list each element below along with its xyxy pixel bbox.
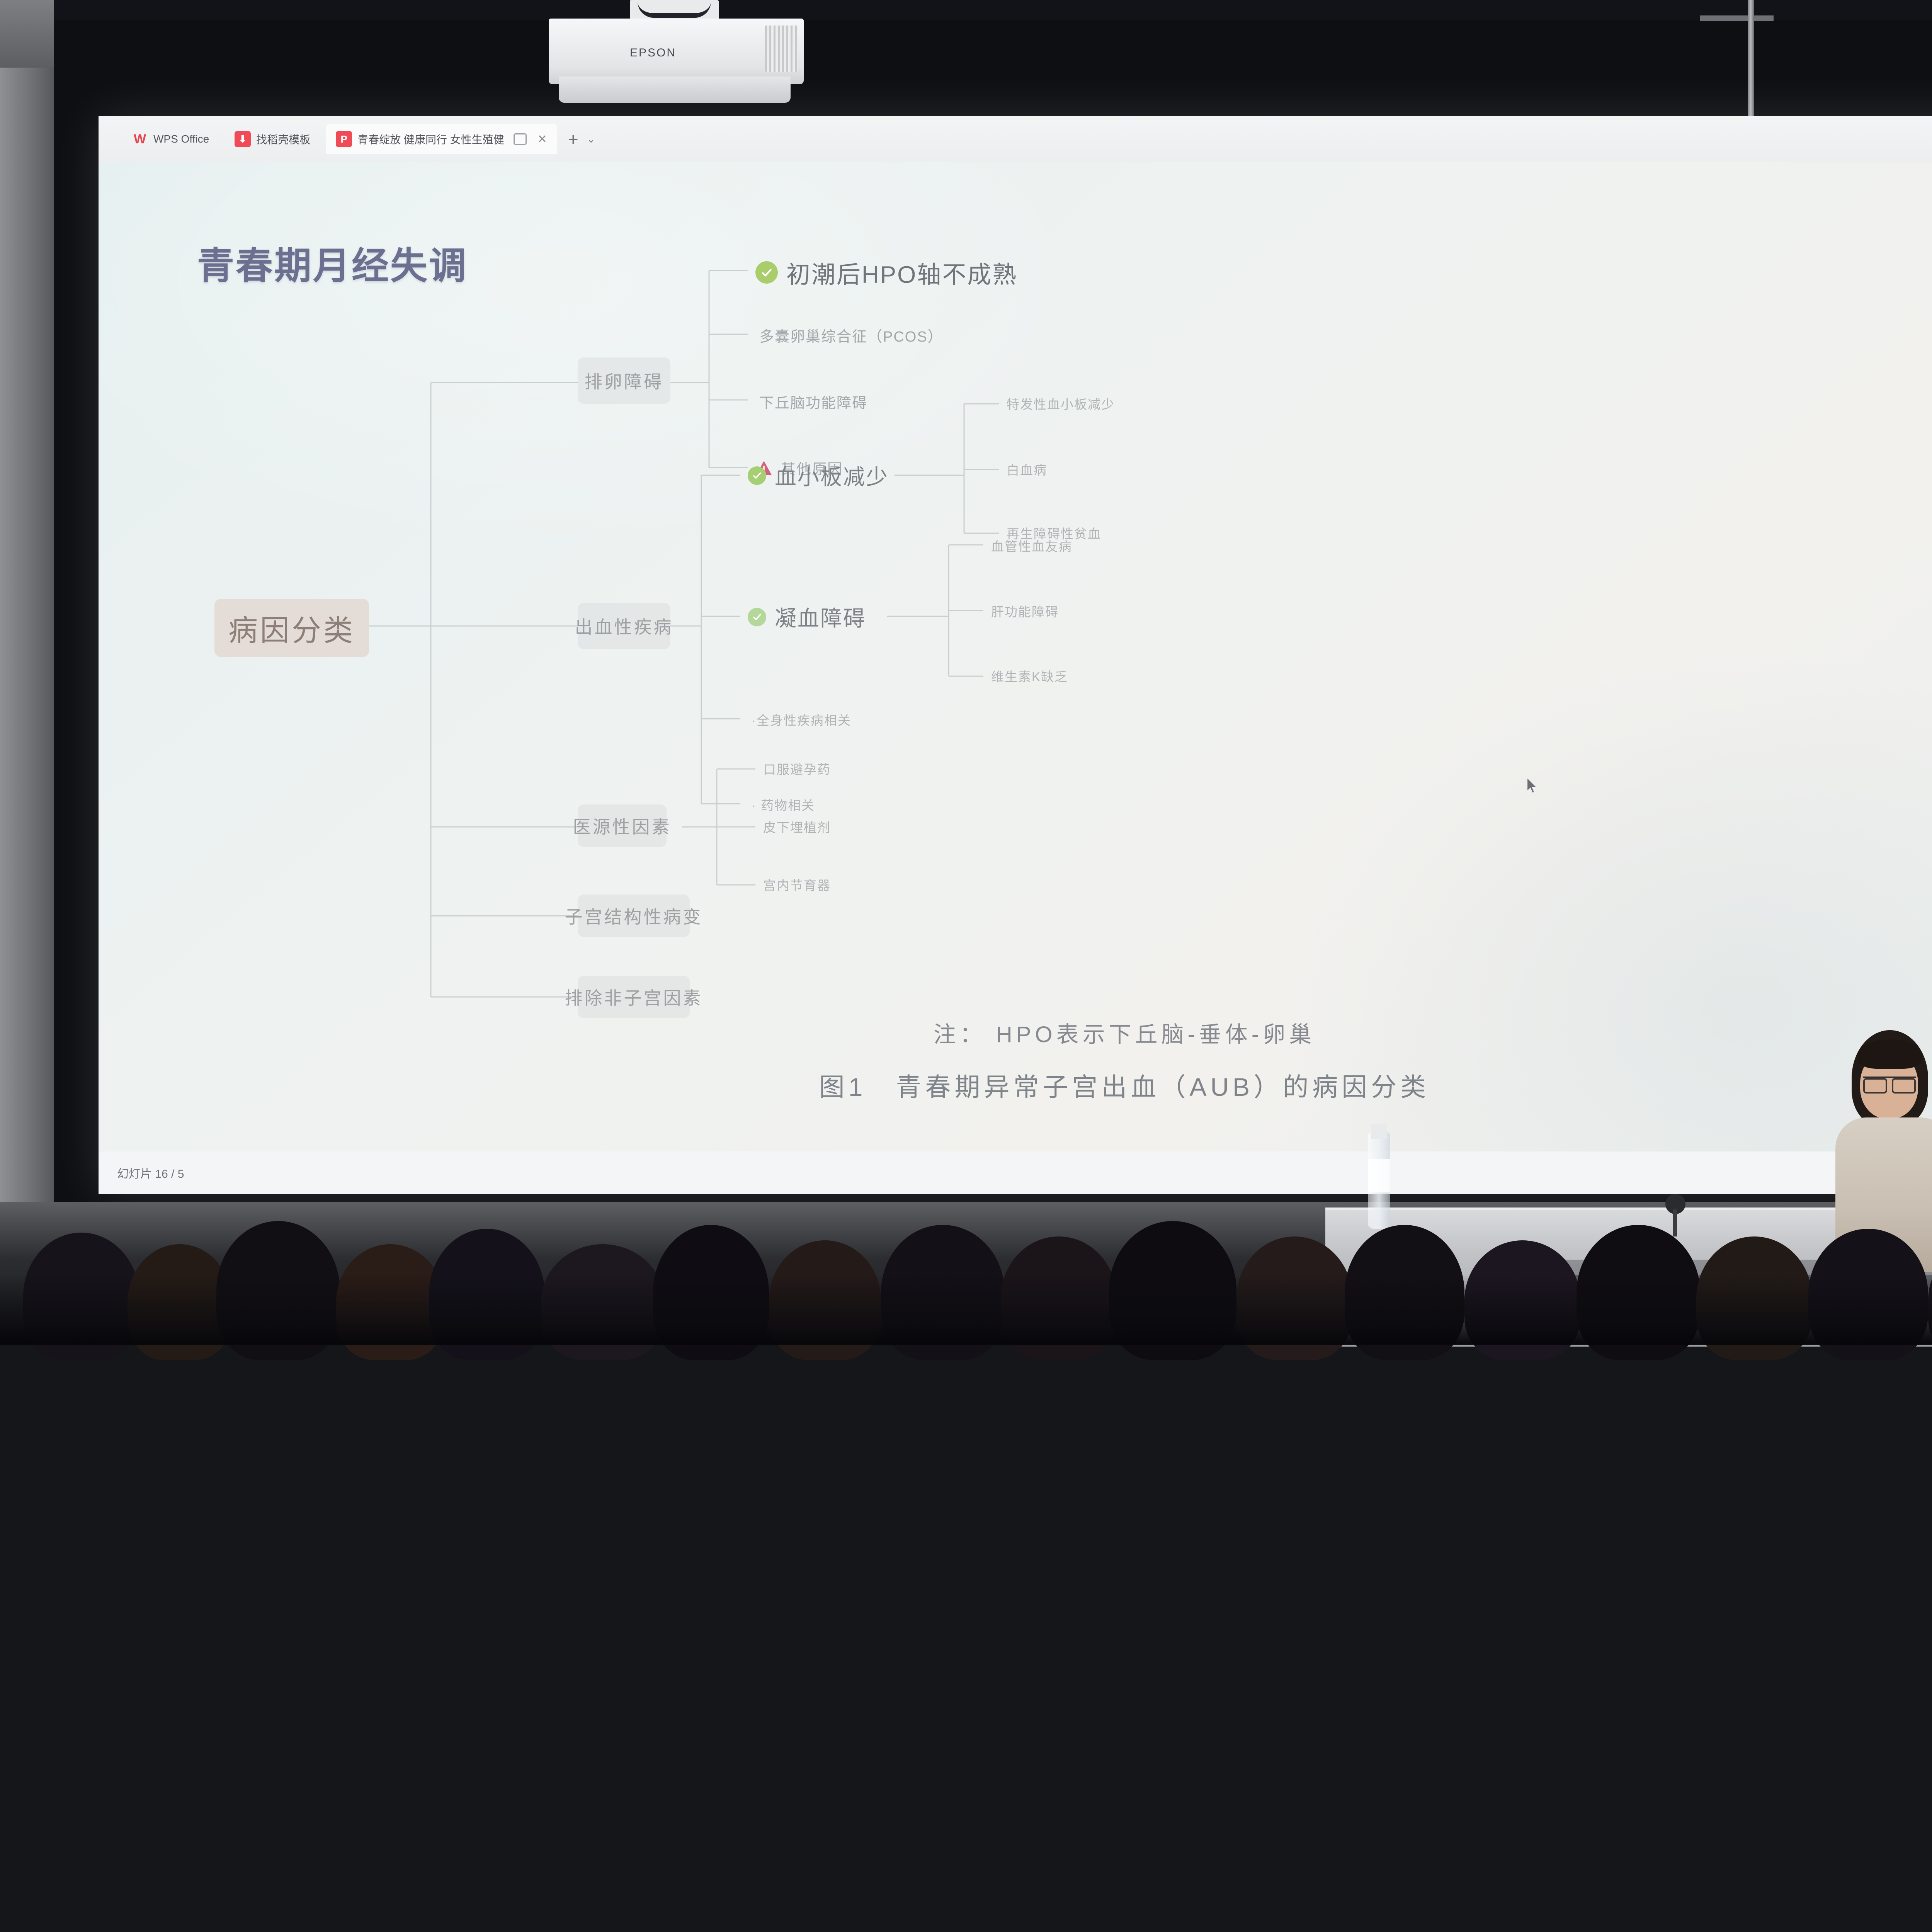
leaf-drug-related[interactable]: · 药物相关 <box>752 795 815 814</box>
projector-cable <box>638 2 711 18</box>
projector-lens-housing <box>559 77 791 103</box>
leaf-label: 白血病 <box>1007 460 1047 478</box>
check-circle-icon <box>748 608 766 626</box>
new-tab-button[interactable]: + <box>568 129 578 150</box>
tab-label: 青春绽放 健康同行 女性生殖健 <box>357 131 504 147</box>
projector-body: EPSON <box>549 19 804 84</box>
note-figure-caption: 图1 青春期异常子宫出血（AUB）的病因分类 <box>99 1066 1932 1104</box>
presenter-glasses <box>1863 1077 1916 1090</box>
mindmap-branch-exclude-nonuterine[interactable]: 排除非子宫因素 <box>578 976 690 1018</box>
leaf-label: 下丘脑功能障碍 <box>759 391 867 412</box>
mindmap-branch-ovulation[interactable]: 排卵障碍 <box>578 357 670 404</box>
leaf-label: 肝功能障碍 <box>991 602 1059 620</box>
tab-wps-office[interactable]: W WPS Office <box>122 124 219 154</box>
tab-restore-icon[interactable] <box>514 133 527 145</box>
foreground-shadow <box>0 1275 1932 1345</box>
leaf-label: · 药物相关 <box>752 795 815 814</box>
leaf-label: 血管性血友病 <box>991 536 1072 555</box>
slide-canvas[interactable]: 青春期月经失调 <box>99 162 1932 1151</box>
powerpoint-icon: P <box>336 131 352 147</box>
leaf-label: 皮下埋植剂 <box>763 817 831 836</box>
status-bar: 幻灯片 16 / 5 <box>99 1151 1932 1194</box>
ceiling-projector: EPSON <box>541 0 811 116</box>
leaf-vitamin-k-deficiency[interactable]: 维生素K缺乏 <box>991 667 1068 685</box>
water-bottle-label <box>1368 1159 1390 1192</box>
wps-logo-icon: W <box>132 131 148 147</box>
presenter-fringe <box>1858 1039 1922 1069</box>
mindmap-branch-iatrogenic[interactable]: 医源性因素 <box>578 804 667 847</box>
tab-presentation[interactable]: P 青春绽放 健康同行 女性生殖健 ✕ <box>326 124 557 154</box>
projection-screen: W WPS Office ⬇ 找稻壳模板 P 青春绽放 健康同行 女性生殖健 ✕… <box>99 116 1932 1194</box>
leaf-label: 凝血障碍 <box>775 601 866 633</box>
mindmap-branch-uterine-structural[interactable]: 子宫结构性病变 <box>578 895 690 937</box>
projector-vent <box>765 26 798 72</box>
lecture-hall-scene: EPSON W WPS Office ⬇ 找稻壳模板 P 青春绽放 健康同行 女… <box>0 0 1932 1345</box>
leaf-coagulation-disorder[interactable]: 凝血障碍 <box>748 601 866 633</box>
left-wall <box>0 0 54 1202</box>
leaf-pcos[interactable]: 多囊卵巢综合征（PCOS） <box>759 325 943 346</box>
tab-close-icon[interactable]: ✕ <box>537 133 547 146</box>
leaf-itp[interactable]: 特发性血小板减少 <box>1007 394 1115 413</box>
leaf-iud[interactable]: 宫内节育器 <box>763 875 831 894</box>
projector-brand-label: EPSON <box>630 46 676 60</box>
leaf-leukemia[interactable]: 白血病 <box>1007 460 1047 478</box>
mouse-cursor <box>1527 778 1539 795</box>
water-bottle-cap <box>1371 1124 1387 1139</box>
tab-label: 找稻壳模板 <box>256 131 310 147</box>
slide-counter: 幻灯片 16 / 5 <box>117 1164 184 1181</box>
leaf-label: 多囊卵巢综合征（PCOS） <box>759 325 943 346</box>
leaf-label: 宫内节育器 <box>763 875 831 894</box>
tab-label: WPS Office <box>153 133 209 145</box>
leaf-hpo-immature[interactable]: 初潮后HPO轴不成熟 <box>755 255 1017 290</box>
note-hpo: 注： HPO表示下丘脑-垂体-卵巢 <box>99 1016 1932 1049</box>
wps-title-bar: W WPS Office ⬇ 找稻壳模板 P 青春绽放 健康同行 女性生殖健 ✕… <box>99 116 1932 162</box>
leaf-label: 血小板减少 <box>775 460 889 491</box>
tab-find-template[interactable]: ⬇ 找稻壳模板 <box>224 124 320 154</box>
leaf-label: 维生素K缺乏 <box>991 667 1068 685</box>
check-circle-icon <box>748 466 766 485</box>
ceiling-strip <box>54 0 1932 20</box>
template-icon: ⬇ <box>235 131 251 147</box>
leaf-label: 初潮后HPO轴不成熟 <box>786 255 1017 290</box>
leaf-label: ·全身性疾病相关 <box>752 710 851 729</box>
leaf-label: 口服避孕药 <box>763 759 831 778</box>
leaf-subdermal-implant[interactable]: 皮下埋植剂 <box>763 817 831 836</box>
leaf-systemic-disease-related[interactable]: ·全身性疾病相关 <box>752 710 851 729</box>
mindmap: 病因分类 排卵障碍 出血性疾病 医源性因素 子宫结构性病变 排除非子宫因素 初潮… <box>99 162 1932 1151</box>
leaf-thrombocytopenia[interactable]: 血小板减少 <box>748 460 889 491</box>
ceiling-rail <box>1700 15 1774 21</box>
check-circle-icon <box>755 261 778 284</box>
chevron-down-icon[interactable]: ⌄ <box>587 133 595 145</box>
mindmap-root-node[interactable]: 病因分类 <box>214 599 369 657</box>
leaf-liver-dysfunction[interactable]: 肝功能障碍 <box>991 602 1059 620</box>
leaf-von-willebrand[interactable]: 血管性血友病 <box>991 536 1072 555</box>
mindmap-branch-bleeding[interactable]: 出血性疾病 <box>578 603 670 649</box>
leaf-oral-contraceptive[interactable]: 口服避孕药 <box>763 759 831 778</box>
leaf-hypothalamic-dysfunction[interactable]: 下丘脑功能障碍 <box>759 391 867 412</box>
leaf-label: 特发性血小板减少 <box>1007 394 1115 413</box>
